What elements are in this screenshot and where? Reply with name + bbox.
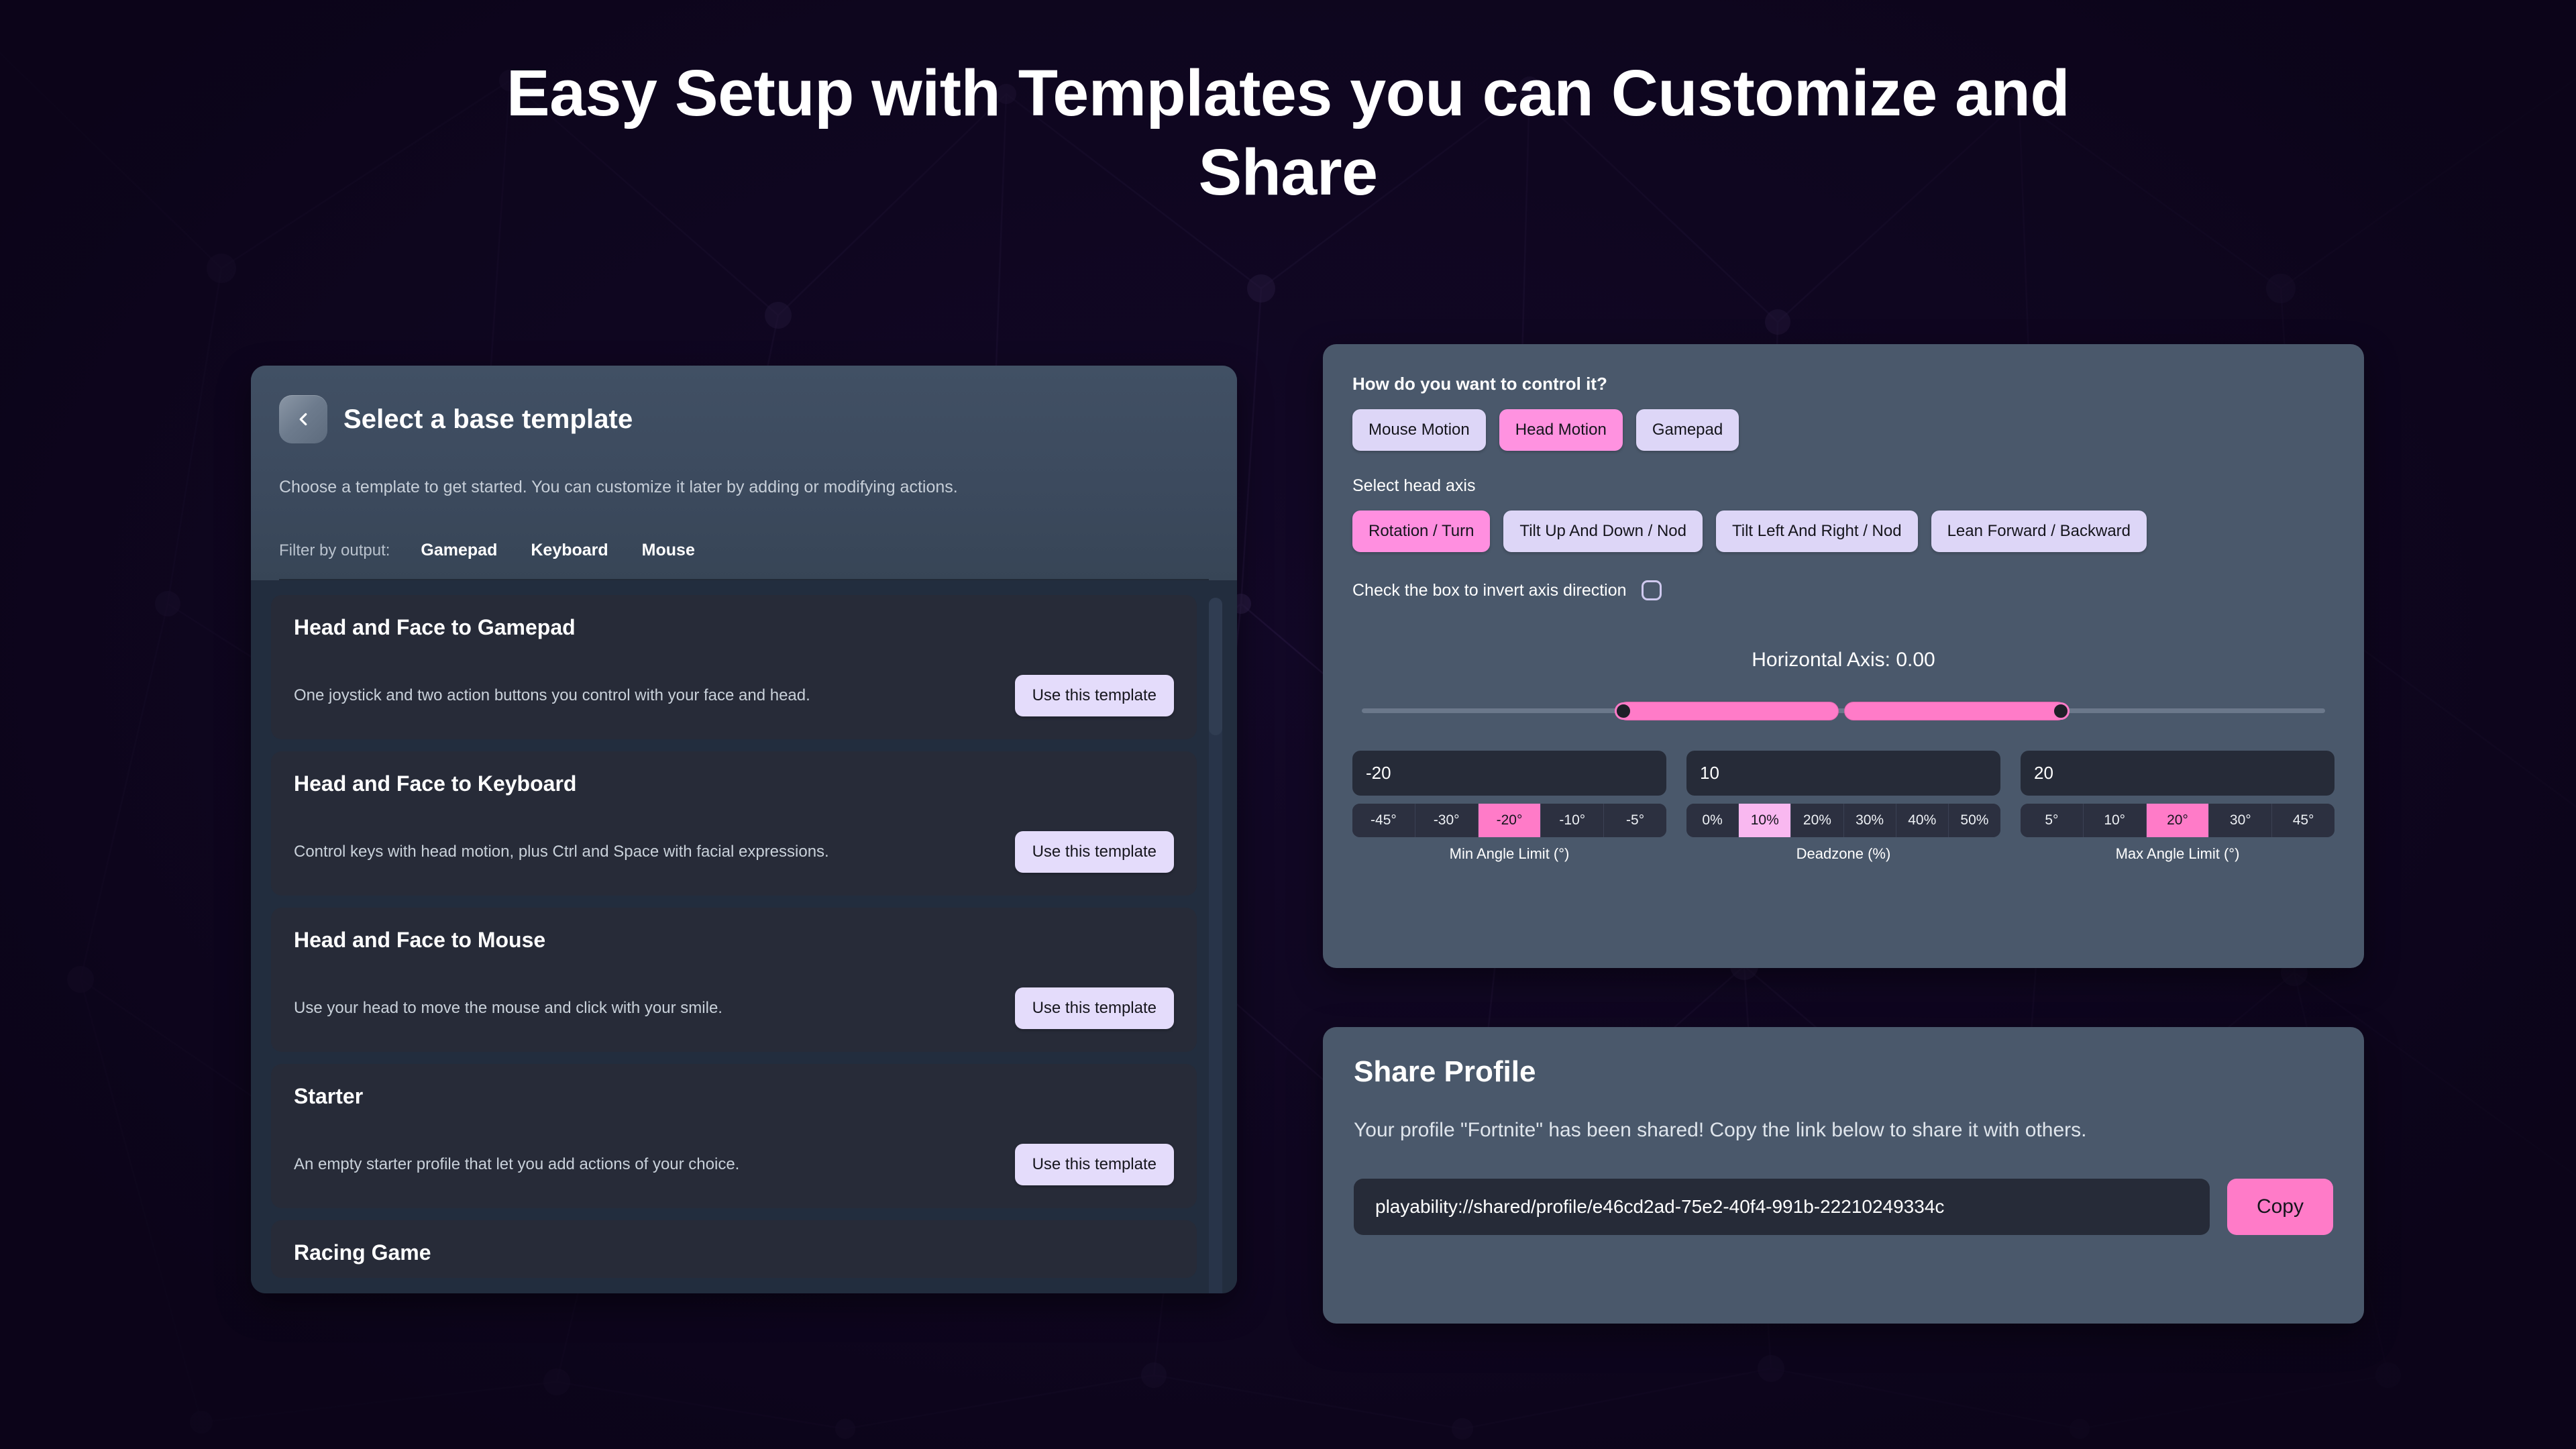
slider-thumb-max[interactable] [2052,702,2070,720]
template-description: An empty starter profile that let you ad… [294,1154,739,1175]
max-angle-preset-group: 5° 10° 20° 30° 45° [2021,804,2334,837]
deadzone-preset-50[interactable]: 50% [1949,804,2000,837]
slider-track [1362,708,2325,713]
min-angle-preset-minus20[interactable]: -20° [1479,804,1542,837]
scrollbar-thumb[interactable] [1209,598,1222,735]
control-mode-head-motion[interactable]: Head Motion [1499,409,1623,451]
share-profile-title: Share Profile [1354,1055,2333,1089]
chevron-left-icon [293,409,313,429]
head-axis-lean-forward-backward[interactable]: Lean Forward / Backward [1931,511,2147,552]
template-description: One joystick and two action buttons you … [294,685,810,706]
filter-label: Filter by output: [279,541,390,560]
slider-fill-left [1617,702,1839,720]
template-card-footer: Control keys with head motion, plus Ctrl… [294,831,1174,873]
filter-mouse[interactable]: Mouse [639,539,698,561]
back-button[interactable] [279,395,327,443]
axis-range-slider[interactable] [1362,692,2325,729]
deadzone-group: 0% 10% 20% 30% 40% 50% Deadzone (%) [1686,751,2000,863]
template-card[interactable]: Head and Face to Gamepad One joystick an… [271,595,1197,739]
deadzone-preset-group: 0% 10% 20% 30% 40% 50% [1686,804,2000,837]
template-description: Use your head to move the mouse and clic… [294,998,722,1019]
template-title: Head and Face to Gamepad [294,615,1174,640]
use-this-template-button[interactable]: Use this template [1015,987,1174,1029]
copy-link-button[interactable]: Copy [2227,1179,2333,1235]
share-profile-panel: Share Profile Your profile "Fortnite" ha… [1323,1027,2364,1324]
template-title: Starter [294,1084,1174,1109]
limits-row: -45° -30° -20° -10° -5° Min Angle Limit … [1352,751,2334,863]
deadzone-preset-10[interactable]: 10% [1739,804,1791,837]
slider-thumb-min[interactable] [1615,702,1632,720]
min-angle-limit-group: -45° -30° -20° -10° -5° Min Angle Limit … [1352,751,1666,863]
deadzone-preset-20[interactable]: 20% [1791,804,1843,837]
max-angle-preset-5[interactable]: 5° [2021,804,2084,837]
min-angle-preset-minus30[interactable]: -30° [1415,804,1479,837]
invert-axis-label: Check the box to invert axis direction [1352,581,1627,600]
template-card[interactable]: Head and Face to Keyboard Control keys w… [271,751,1197,896]
template-card[interactable]: Head and Face to Mouse Use your head to … [271,908,1197,1052]
template-list-scrollbar[interactable] [1209,598,1222,1293]
control-mode-mouse-motion[interactable]: Mouse Motion [1352,409,1486,451]
control-mode-gamepad[interactable]: Gamepad [1636,409,1739,451]
max-angle-limit-caption: Max Angle Limit (°) [2021,845,2334,863]
min-angle-preset-minus10[interactable]: -10° [1541,804,1604,837]
slider-fill-right [1844,702,2067,720]
head-axis-tilt-up-down-nod[interactable]: Tilt Up And Down / Nod [1503,511,1703,552]
use-this-template-button[interactable]: Use this template [1015,675,1174,716]
max-angle-preset-30[interactable]: 30° [2209,804,2272,837]
filter-gamepad[interactable]: Gamepad [418,539,500,561]
template-card[interactable]: Racing Game [271,1220,1197,1278]
filter-row: Filter by output: Gamepad Keyboard Mouse [279,539,1209,580]
max-angle-preset-45[interactable]: 45° [2272,804,2334,837]
max-angle-preset-10[interactable]: 10° [2084,804,2147,837]
use-this-template-button[interactable]: Use this template [1015,831,1174,873]
template-title: Racing Game [294,1240,1174,1265]
max-angle-limit-group: 5° 10° 20° 30° 45° Max Angle Limit (°) [2021,751,2334,863]
template-panel-header: Select a base template Choose a template… [251,366,1237,580]
head-axis-group: Rotation / Turn Tilt Up And Down / Nod T… [1352,511,2334,552]
control-mode-group: Mouse Motion Head Motion Gamepad [1352,409,2334,451]
head-axis-rotation-turn[interactable]: Rotation / Turn [1352,511,1490,552]
use-this-template-button[interactable]: Use this template [1015,1144,1174,1185]
template-selector-panel: Select a base template Choose a template… [251,366,1237,1293]
min-angle-preset-minus45[interactable]: -45° [1352,804,1415,837]
max-angle-limit-input[interactable] [2021,751,2334,796]
template-card-footer: An empty starter profile that let you ad… [294,1144,1174,1185]
control-config-panel: How do you want to control it? Mouse Mot… [1323,344,2364,968]
min-angle-limit-input[interactable] [1352,751,1666,796]
template-card-footer: One joystick and two action buttons you … [294,675,1174,716]
template-description: Control keys with head motion, plus Ctrl… [294,841,829,863]
min-angle-preset-group: -45° -30° -20° -10° -5° [1352,804,1666,837]
template-panel-title: Select a base template [343,405,633,435]
min-angle-preset-minus5[interactable]: -5° [1604,804,1666,837]
axis-value-readout: Horizontal Axis: 0.00 [1352,649,2334,672]
select-head-axis-label: Select head axis [1352,476,2334,496]
template-card-footer: Use your head to move the mouse and clic… [294,987,1174,1029]
template-title: Head and Face to Mouse [294,928,1174,953]
deadzone-caption: Deadzone (%) [1686,845,2000,863]
invert-axis-checkbox[interactable] [1642,580,1662,600]
deadzone-preset-30[interactable]: 30% [1844,804,1896,837]
share-profile-description: Your profile "Fortnite" has been shared!… [1354,1116,2273,1145]
template-card[interactable]: Starter An empty starter profile that le… [271,1064,1197,1208]
max-angle-preset-20[interactable]: 20° [2147,804,2210,837]
control-question: How do you want to control it? [1352,374,2334,394]
share-link-row: Copy [1354,1179,2333,1235]
template-list: Head and Face to Gamepad One joystick an… [251,580,1237,1293]
head-axis-tilt-left-right-nod[interactable]: Tilt Left And Right / Nod [1716,511,1918,552]
deadzone-input[interactable] [1686,751,2000,796]
deadzone-preset-0[interactable]: 0% [1686,804,1739,837]
share-link-input[interactable] [1354,1179,2210,1235]
content-stage: Select a base template Choose a template… [0,0,2576,1449]
filter-keyboard[interactable]: Keyboard [528,539,610,561]
template-panel-title-row: Select a base template [279,395,1209,443]
template-panel-description: Choose a template to get started. You ca… [279,476,1209,499]
invert-axis-row: Check the box to invert axis direction [1352,580,2334,600]
deadzone-preset-40[interactable]: 40% [1896,804,1949,837]
min-angle-limit-caption: Min Angle Limit (°) [1352,845,1666,863]
template-title: Head and Face to Keyboard [294,771,1174,796]
